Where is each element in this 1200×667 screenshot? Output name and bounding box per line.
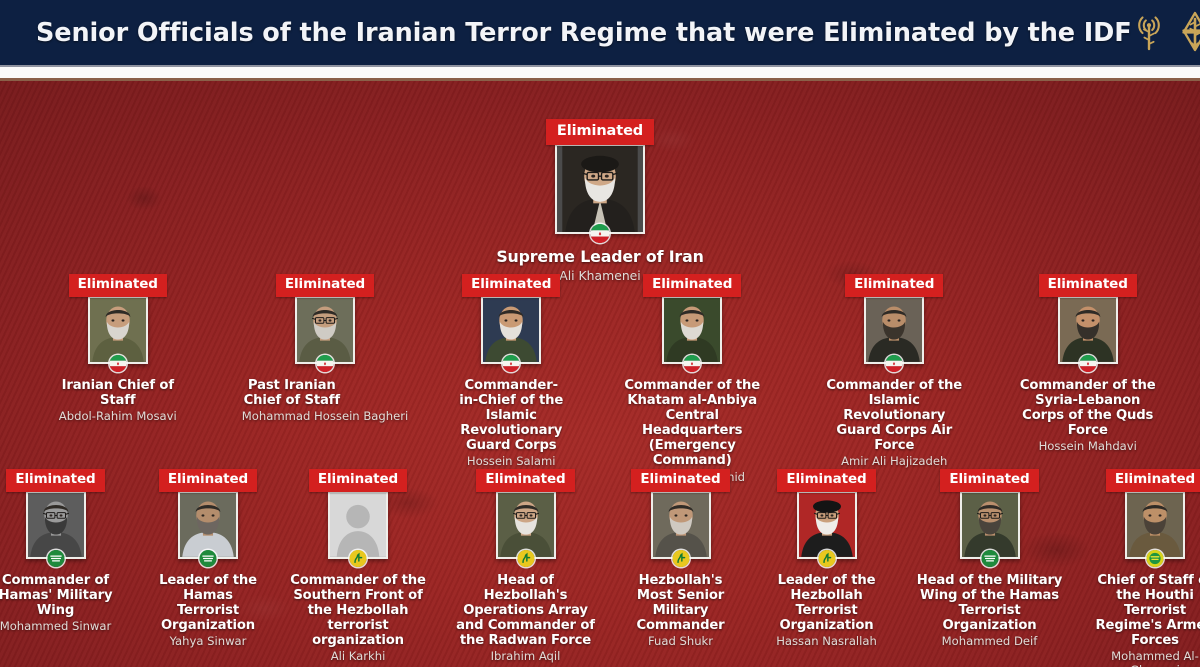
flag-badge-iran xyxy=(109,355,126,372)
flag-badge-hezbollah xyxy=(818,550,835,567)
official-titles: Commander of the Syria-Lebanon Corps of … xyxy=(1018,378,1157,455)
official-role: Commander of the Islamic Revolutionary G… xyxy=(819,378,969,454)
broadcast-antenna-icon xyxy=(1132,11,1166,55)
official-role: Chief of Staff of the Houthi Terrorist R… xyxy=(1092,573,1200,649)
official-card-gholam-ali-rashid[interactable]: Eliminated Commander of the Khatam al-An… xyxy=(614,274,770,484)
official-role: Commander of the Southern Front of the H… xyxy=(287,573,430,649)
official-name: Hossein Salami xyxy=(457,455,565,469)
official-name: Mohammed Al-Ghamari xyxy=(1092,650,1200,667)
flag-badge-hamas xyxy=(200,550,217,567)
portrait-mosavi xyxy=(90,298,146,362)
official-card-hossein-salami[interactable]: Eliminated Commander-in-Chief of the Isl… xyxy=(457,274,565,469)
official-role: Supreme Leader of Iran xyxy=(490,248,710,266)
official-role: Commander-in-Chief of the Islamic Revolu… xyxy=(457,378,565,454)
official-titles: Hezbollah's Most Senior Military Command… xyxy=(622,573,740,650)
official-titles: Iranian Chief of Staff Abdol-Rahim Mosav… xyxy=(43,378,193,424)
portrait-nasrallah xyxy=(799,493,855,557)
portrait-frame xyxy=(328,491,388,559)
official-name: Amir Ali Hajizadeh xyxy=(819,455,969,469)
portrait-silhouette xyxy=(330,493,386,557)
officials-row-1: Eliminated Supreme Leader of Iran Ali Kh… xyxy=(0,119,1200,284)
status-badge: Eliminated xyxy=(631,469,729,492)
official-titles: Past Iranian Chief of Staff Mohammad Hos… xyxy=(242,378,408,424)
portrait-frame xyxy=(178,491,238,559)
status-badge: Eliminated xyxy=(777,469,875,492)
flag-badge-houthi xyxy=(1147,550,1164,567)
official-name: Hossein Mahdavi xyxy=(1018,440,1157,454)
status-badge: Eliminated xyxy=(643,274,741,297)
official-card-ali-karkhi[interactable]: Eliminated Commander of the Southern Fro… xyxy=(287,469,430,664)
official-titles: Leader of the Hamas Terrorist Organizati… xyxy=(156,573,261,650)
flag-badge-hezbollah xyxy=(517,550,534,567)
status-badge: Eliminated xyxy=(159,469,257,492)
official-card-mohammed-al-ghamari[interactable]: Eliminated Chief of Staff of the Houthi … xyxy=(1092,469,1200,667)
official-role: Leader of the Hamas Terrorist Organizati… xyxy=(156,573,261,634)
official-role: Head of the Military Wing of the Hamas T… xyxy=(914,573,1066,634)
portrait-khamenei xyxy=(557,146,643,232)
header-emblems xyxy=(1132,10,1200,56)
official-name: Mohammed Deif xyxy=(914,635,1066,649)
page-title: Senior Officials of the Iranian Terror R… xyxy=(36,18,1132,48)
officials-row-2: Eliminated Iranian Chief of Staff Abdol-… xyxy=(0,274,1200,484)
portrait-aqil xyxy=(498,493,554,557)
official-name: Mohammed Sinwar xyxy=(0,620,130,634)
portrait-bagheri xyxy=(297,298,353,362)
official-role: Hezbollah's Most Senior Military Command… xyxy=(622,573,740,634)
official-role: Iranian Chief of Staff xyxy=(43,378,193,408)
official-titles: Commander-in-Chief of the Islamic Revolu… xyxy=(457,378,565,470)
official-role: Leader of the Hezbollah Terrorist Organi… xyxy=(766,573,888,634)
official-titles: Head of Hezbollah's Operations Array and… xyxy=(456,573,596,665)
status-badge: Eliminated xyxy=(6,469,104,492)
flag-badge-iran xyxy=(886,355,903,372)
official-name: Hassan Nasrallah xyxy=(766,635,888,649)
portrait-frame xyxy=(1125,491,1185,559)
official-titles: Head of the Military Wing of the Hamas T… xyxy=(914,573,1066,650)
official-titles: Commander of Hamas' Military Wing Mohamm… xyxy=(0,573,130,634)
official-role: Commander of the Syria-Lebanon Corps of … xyxy=(1018,378,1157,439)
portrait-m-sinwar xyxy=(28,493,84,557)
official-card-ibrahim-aqil[interactable]: Eliminated Head of Hezbollah's Operation… xyxy=(456,469,596,664)
portrait-frame xyxy=(26,491,86,559)
header-divider-white xyxy=(0,67,1200,78)
official-name: Abdol-Rahim Mosavi xyxy=(43,410,193,424)
official-name: Fuad Shukr xyxy=(622,635,740,649)
status-badge: Eliminated xyxy=(276,274,374,297)
official-role: Commander of Hamas' Military Wing xyxy=(0,573,130,619)
status-badge: Eliminated xyxy=(462,274,560,297)
portrait-frame xyxy=(555,144,645,234)
flag-badge-iran xyxy=(1079,355,1096,372)
official-card-ali-khamenei[interactable]: Eliminated Supreme Leader of Iran Ali Kh… xyxy=(490,119,710,284)
status-badge: Eliminated xyxy=(476,469,574,492)
official-titles: Commander of the Southern Front of the H… xyxy=(287,573,430,665)
official-card-mohammad-hossein-bagheri[interactable]: Eliminated Past Iranian Chief of Staff M… xyxy=(242,274,408,424)
flag-badge-hamas xyxy=(981,550,998,567)
official-name: Yahya Sinwar xyxy=(156,635,261,649)
official-name: Ibrahim Aqil xyxy=(456,650,596,664)
official-card-mohammed-deif[interactable]: Eliminated Head of the Military Wing of … xyxy=(914,469,1066,649)
portrait-frame xyxy=(662,296,722,364)
official-role: Past Iranian Chief of Staff xyxy=(242,378,342,408)
portrait-hajizadeh xyxy=(866,298,922,362)
portrait-frame xyxy=(88,296,148,364)
idf-insignia-icon xyxy=(1176,10,1200,56)
header-bar: Senior Officials of the Iranian Terror R… xyxy=(0,0,1200,65)
official-card-mohammed-sinwar[interactable]: Eliminated Commander of Hamas' Military … xyxy=(0,469,130,634)
status-badge: Eliminated xyxy=(309,469,407,492)
status-badge: Eliminated xyxy=(845,274,943,297)
portrait-frame xyxy=(651,491,711,559)
flag-badge-hamas xyxy=(47,550,64,567)
portrait-frame xyxy=(1058,296,1118,364)
infographic-stage: Eliminated Supreme Leader of Iran Ali Kh… xyxy=(0,81,1200,667)
official-role: Commander of the Khatam al-Anbiya Centra… xyxy=(614,378,770,469)
portrait-frame xyxy=(797,491,857,559)
portrait-rashid xyxy=(664,298,720,362)
official-name: Ali Karkhi xyxy=(287,650,430,664)
status-badge: Eliminated xyxy=(546,119,654,145)
portrait-frame xyxy=(496,491,556,559)
official-card-amir-ali-hajizadeh[interactable]: Eliminated Commander of the Islamic Revo… xyxy=(819,274,969,469)
official-card-yahya-sinwar[interactable]: Eliminated Leader of the Hamas Terrorist… xyxy=(156,469,261,649)
status-badge: Eliminated xyxy=(940,469,1038,492)
official-titles: Chief of Staff of the Houthi Terrorist R… xyxy=(1092,573,1200,667)
official-card-abdol-rahim-mosavi[interactable]: Eliminated Iranian Chief of Staff Abdol-… xyxy=(43,274,193,424)
portrait-frame xyxy=(295,296,355,364)
status-badge: Eliminated xyxy=(1039,274,1137,297)
portrait-frame xyxy=(960,491,1020,559)
portrait-y-sinwar xyxy=(180,493,236,557)
portrait-frame xyxy=(864,296,924,364)
portrait-salami xyxy=(483,298,539,362)
officials-row-3: Eliminated Commander of Hamas' Military … xyxy=(0,469,1200,667)
official-name: Mohammad Hossein Bagheri xyxy=(242,410,408,424)
official-titles: Leader of the Hezbollah Terrorist Organi… xyxy=(766,573,888,650)
flag-badge-hezbollah xyxy=(350,550,367,567)
flag-badge-hezbollah xyxy=(672,550,689,567)
official-card-fuad-shukr[interactable]: Eliminated Hezbollah's Most Senior Milit… xyxy=(622,469,740,649)
portrait-frame xyxy=(481,296,541,364)
status-badge: Eliminated xyxy=(69,274,167,297)
official-card-hassan-nasrallah[interactable]: Eliminated Leader of the Hezbollah Terro… xyxy=(766,469,888,649)
flag-badge-iran xyxy=(316,355,333,372)
status-badge: Eliminated xyxy=(1106,469,1200,492)
portrait-shukr xyxy=(653,493,709,557)
portrait-deif xyxy=(962,493,1018,557)
portrait-mahdavi xyxy=(1060,298,1116,362)
flag-badge-iran xyxy=(684,355,701,372)
flag-badge-iran xyxy=(503,355,520,372)
official-titles: Commander of the Islamic Revolutionary G… xyxy=(819,378,969,470)
official-role: Head of Hezbollah's Operations Array and… xyxy=(456,573,596,649)
official-card-hossein-mahdavi[interactable]: Eliminated Commander of the Syria-Lebano… xyxy=(1018,274,1157,454)
portrait-al-ghamari xyxy=(1127,493,1183,557)
flag-badge-iran xyxy=(591,224,610,243)
